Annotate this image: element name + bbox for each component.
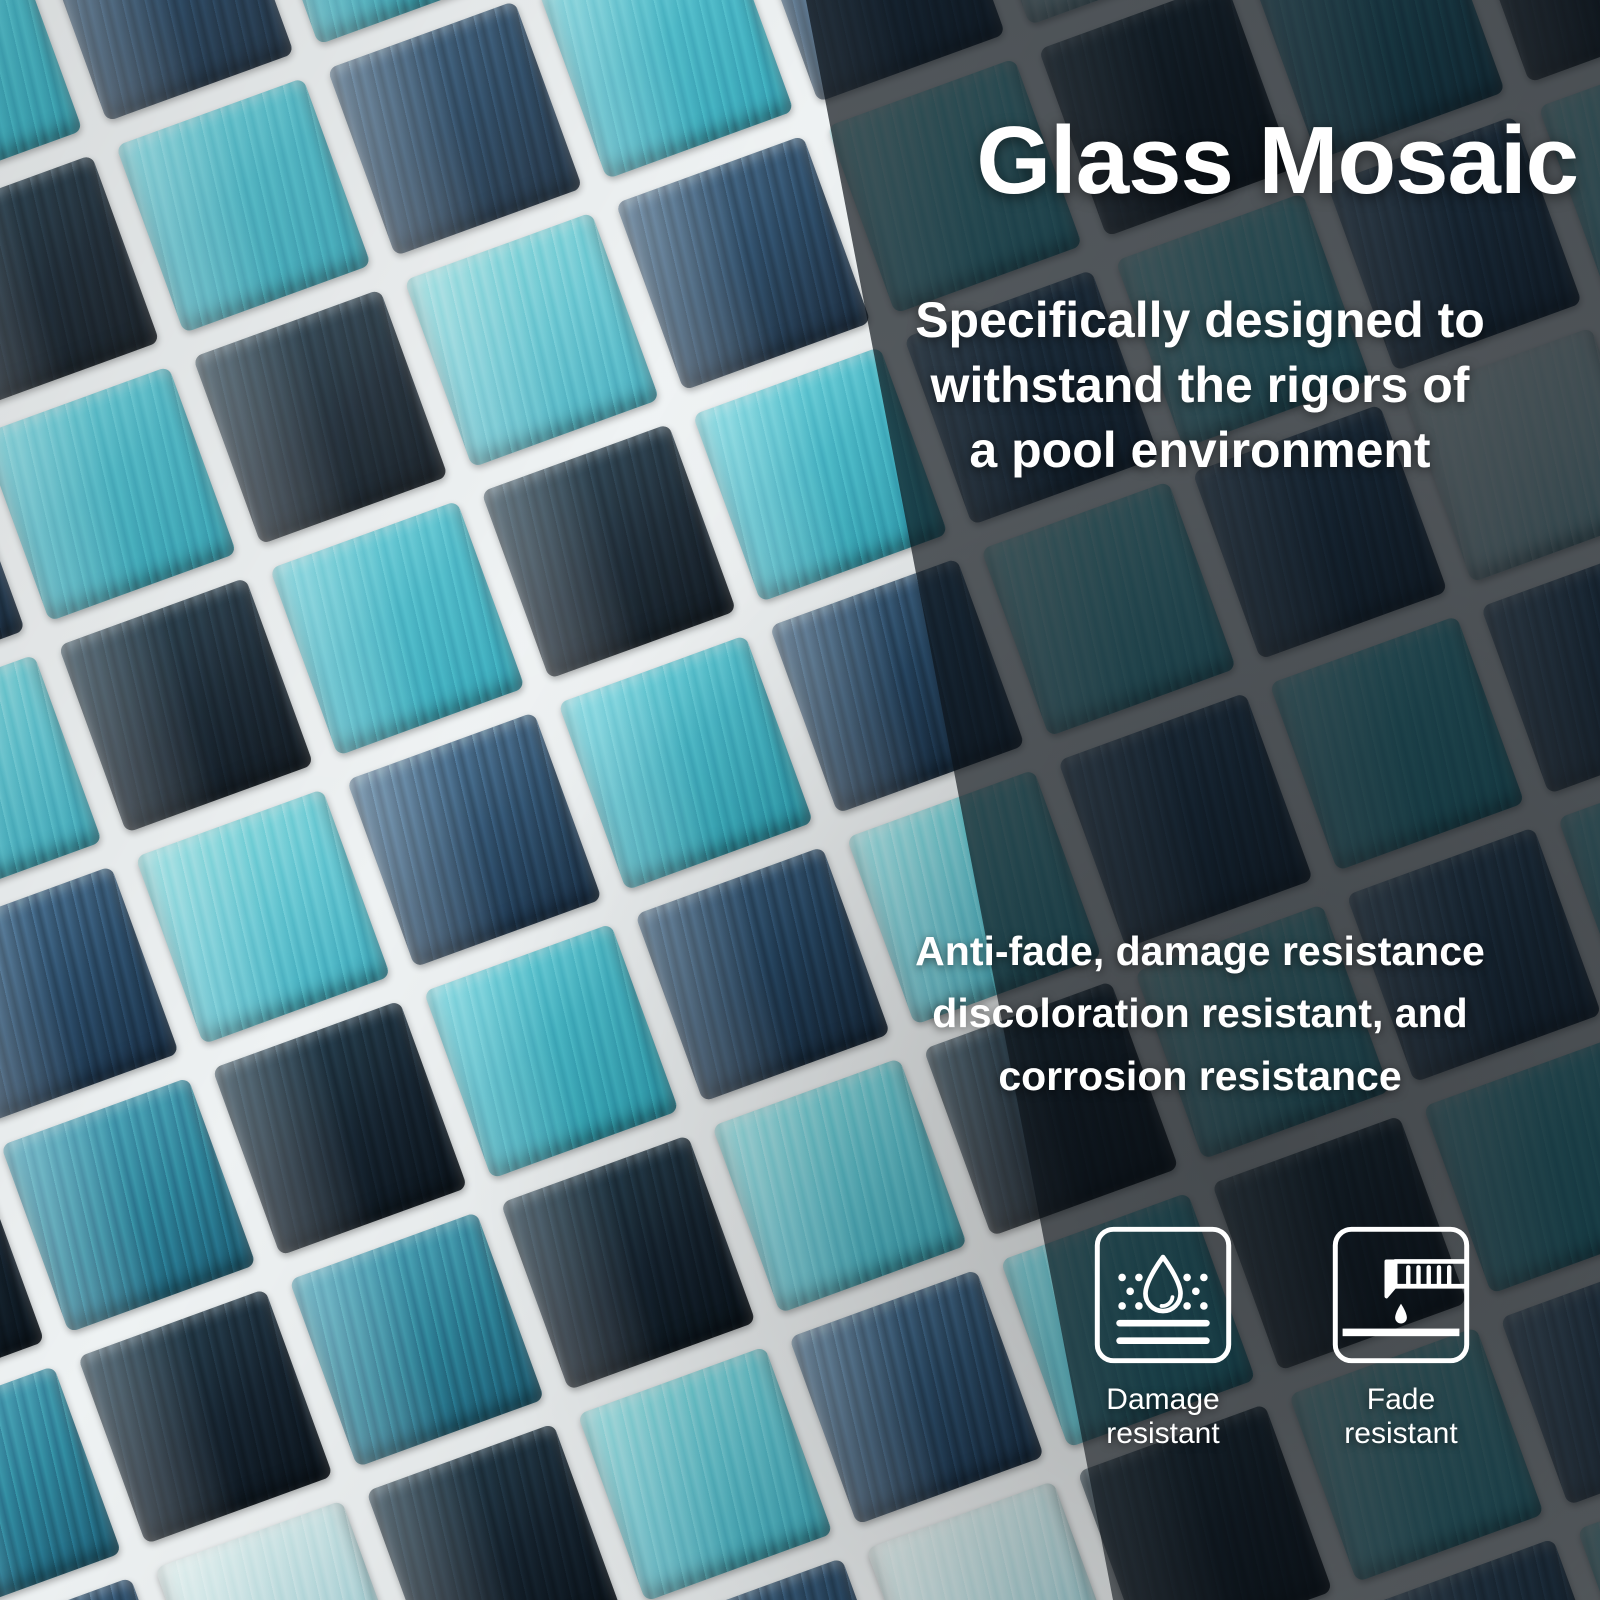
benefits-line-2: discoloration resistant, and (820, 982, 1580, 1044)
subheading-line-1: Specifically designed to (840, 288, 1560, 353)
feature-damage-resistant: Damage resistant (1090, 1222, 1236, 1451)
subheading-line-2: withstand the rigors of (840, 353, 1560, 418)
feature-fade-resistant: Fade resistant (1328, 1222, 1474, 1451)
benefits-line-3: corrosion resistance (820, 1045, 1580, 1107)
benefits-text: Anti-fade, damage resistance discolorati… (820, 920, 1580, 1107)
feature-damage-resistant-label: Damage resistant (1106, 1383, 1219, 1451)
text-panel: Glass Mosaic Specifically designed to wi… (800, 0, 1600, 1600)
product-banner: Glass Mosaic Specifically designed to wi… (0, 0, 1600, 1600)
feature-fade-resistant-label: Fade resistant (1344, 1383, 1457, 1451)
feature-badges: Damage resistant Fade resistant (1090, 1222, 1560, 1451)
benefits-line-1: Anti-fade, damage resistance (820, 920, 1580, 982)
subheading: Specifically designed to withstand the r… (840, 288, 1560, 483)
water-droplet-layers-icon (1090, 1222, 1236, 1368)
paint-roller-drip-icon (1328, 1222, 1474, 1368)
page-title: Glass Mosaic (800, 112, 1578, 210)
subheading-line-3: a pool environment (840, 418, 1560, 483)
